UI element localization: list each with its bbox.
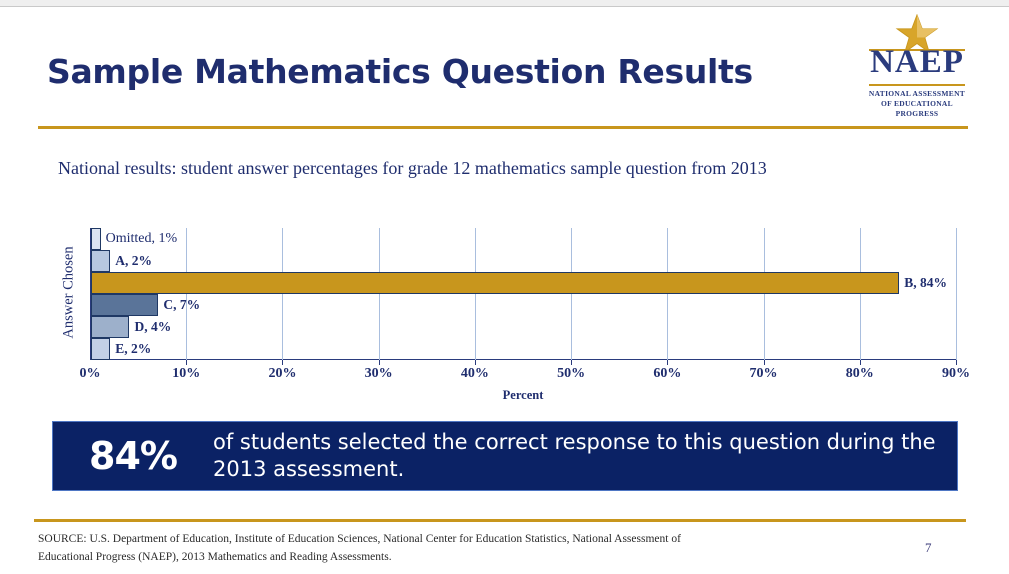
axis-tick [186, 360, 187, 365]
x-tick-label: 80% [846, 366, 874, 382]
logo-subtitle-line-1: NATIONAL ASSESSMENT [861, 89, 973, 99]
axis-tick [475, 360, 476, 365]
axis-tick [667, 360, 668, 365]
bar-b [91, 272, 899, 294]
bar-label-a: A, 2% [110, 253, 152, 269]
bar-chart: Answer Chosen Omitted, 1%A, 2%B, 84%C, 7… [58, 222, 968, 392]
bar-label-omitted: Omitted, 1% [101, 231, 178, 247]
bar-d [91, 316, 129, 338]
x-axis-title: Percent [90, 388, 956, 403]
bar-e [91, 338, 110, 360]
bar-row: C, 7% [91, 294, 957, 316]
header-divider [38, 126, 968, 129]
logo-subtitle: NATIONAL ASSESSMENT OF EDUCATIONAL PROGR… [861, 89, 973, 119]
bar-label-d: D, 4% [129, 319, 171, 335]
chart-description: National results: student answer percent… [58, 156, 818, 181]
bar-row: Omitted, 1% [91, 228, 957, 250]
x-tick-label: 10% [172, 366, 200, 382]
axis-tick [956, 360, 957, 365]
bar-label-e: E, 2% [110, 341, 151, 357]
highlight-callout: 84% of students selected the correct res… [52, 421, 958, 491]
logo-subtitle-line-2: OF EDUCATIONAL [861, 99, 973, 109]
axis-tick [379, 360, 380, 365]
page-number: 7 [925, 540, 932, 556]
slide: Sample Mathematics Question Results NAEP… [0, 0, 1009, 574]
x-tick-label: 60% [653, 366, 681, 382]
bar-label-b: B, 84% [899, 275, 947, 291]
bar-label-c: C, 7% [158, 297, 200, 313]
x-tick-label: 70% [750, 366, 778, 382]
logo-rule-bottom [869, 84, 965, 86]
bar-row: A, 2% [91, 250, 957, 272]
y-axis-title: Answer Chosen [58, 228, 80, 360]
top-strip [0, 0, 1009, 7]
bar-omitted [91, 228, 101, 250]
bar-row: D, 4% [91, 316, 957, 338]
bar-row: E, 2% [91, 338, 957, 360]
logo-subtitle-line-3: PROGRESS [861, 109, 973, 119]
x-axis-tick-labels: 0%10%20%30%40%50%60%70%80%90% [90, 366, 956, 386]
callout-stat: 84% [53, 434, 213, 478]
axis-tick [860, 360, 861, 365]
axis-tick [571, 360, 572, 365]
axis-tick [764, 360, 765, 365]
x-tick-label: 40% [461, 366, 489, 382]
bar-c [91, 294, 158, 316]
source-note: SOURCE: U.S. Department of Education, In… [38, 530, 738, 566]
footer-divider [34, 519, 966, 522]
bar-row: B, 84% [91, 272, 957, 294]
callout-message: of students selected the correct respons… [213, 429, 957, 483]
naep-logo: NAEP NATIONAL ASSESSMENT OF EDUCATIONAL … [861, 14, 973, 118]
page-title: Sample Mathematics Question Results [47, 52, 753, 91]
plot-area: Omitted, 1%A, 2%B, 84%C, 7%D, 4%E, 2% [90, 228, 956, 360]
x-tick-label: 90% [942, 366, 970, 382]
x-tick-label: 0% [80, 366, 101, 382]
axis-tick [282, 360, 283, 365]
bar-a [91, 250, 110, 272]
logo-wordmark: NAEP [861, 46, 973, 79]
x-tick-label: 20% [268, 366, 296, 382]
y-axis-title-text: Answer Chosen [61, 227, 78, 359]
x-tick-label: 30% [365, 366, 393, 382]
x-tick-label: 50% [557, 366, 585, 382]
